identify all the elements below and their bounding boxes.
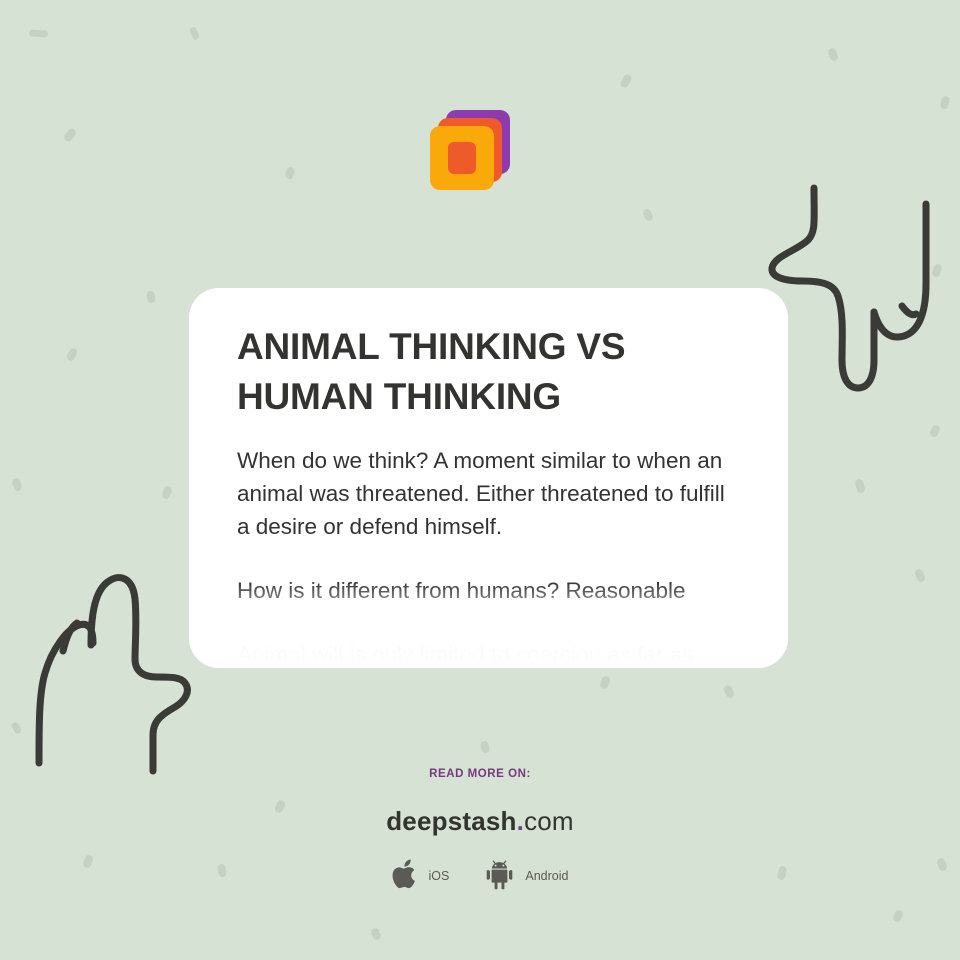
confetti-dash <box>940 95 951 110</box>
confetti-dash <box>29 30 48 38</box>
cube-logo-icon <box>428 102 520 198</box>
brand-name: deepstash <box>386 806 516 836</box>
confetti-dash <box>11 477 23 492</box>
read-more-label: READ MORE ON: <box>0 768 960 780</box>
confetti-dash <box>892 909 904 923</box>
hand-pointing-down-illustration <box>760 180 960 395</box>
confetti-dash <box>285 166 296 180</box>
confetti-dash <box>189 26 201 41</box>
deepstash-logo <box>428 102 520 198</box>
brand-dot: . <box>517 806 524 836</box>
idea-card: ANIMAL THINKING VS HUMAN THINKING When d… <box>189 288 788 668</box>
confetti-dash <box>619 73 633 89</box>
footer: READ MORE ON: deepstash.com iOS <box>0 768 960 892</box>
page-title: ANIMAL THINKING VS HUMAN THINKING <box>237 322 740 422</box>
confetti-dash <box>854 478 866 494</box>
confetti-dash <box>161 485 173 500</box>
confetti-dash <box>146 291 156 304</box>
confetti-dash <box>929 424 941 438</box>
confetti-dash <box>65 347 78 362</box>
android-label: Android <box>525 869 568 883</box>
card-paragraph: When do we think? A moment similar to wh… <box>237 444 740 543</box>
card-paragraph-truncated: Animal will is only limited to coercion … <box>237 638 740 668</box>
brand-wordmark: deepstash.com <box>0 806 960 837</box>
confetti-dash <box>827 47 839 62</box>
card-body: When do we think? A moment similar to wh… <box>237 422 740 668</box>
brand-tld: com <box>524 806 574 836</box>
confetti-dash <box>10 721 22 735</box>
ios-store-badge[interactable]: iOS <box>392 859 450 892</box>
confetti-dash <box>599 675 611 690</box>
confetti-dash <box>914 568 927 583</box>
confetti-dash <box>642 208 655 222</box>
android-icon <box>483 860 516 892</box>
card-paragraph: How is it different from humans? Reasona… <box>237 574 740 607</box>
confetti-dash <box>480 740 491 754</box>
confetti-dash <box>370 927 382 941</box>
apple-icon <box>392 859 420 892</box>
app-store-badges: iOS Android <box>0 859 960 892</box>
ios-label: iOS <box>429 869 450 883</box>
android-store-badge[interactable]: Android <box>483 860 568 892</box>
confetti-dash <box>723 684 736 699</box>
poster-canvas: ANIMAL THINKING VS HUMAN THINKING When d… <box>0 0 960 960</box>
confetti-dash <box>63 127 78 143</box>
card-content: ANIMAL THINKING VS HUMAN THINKING When d… <box>189 288 788 668</box>
